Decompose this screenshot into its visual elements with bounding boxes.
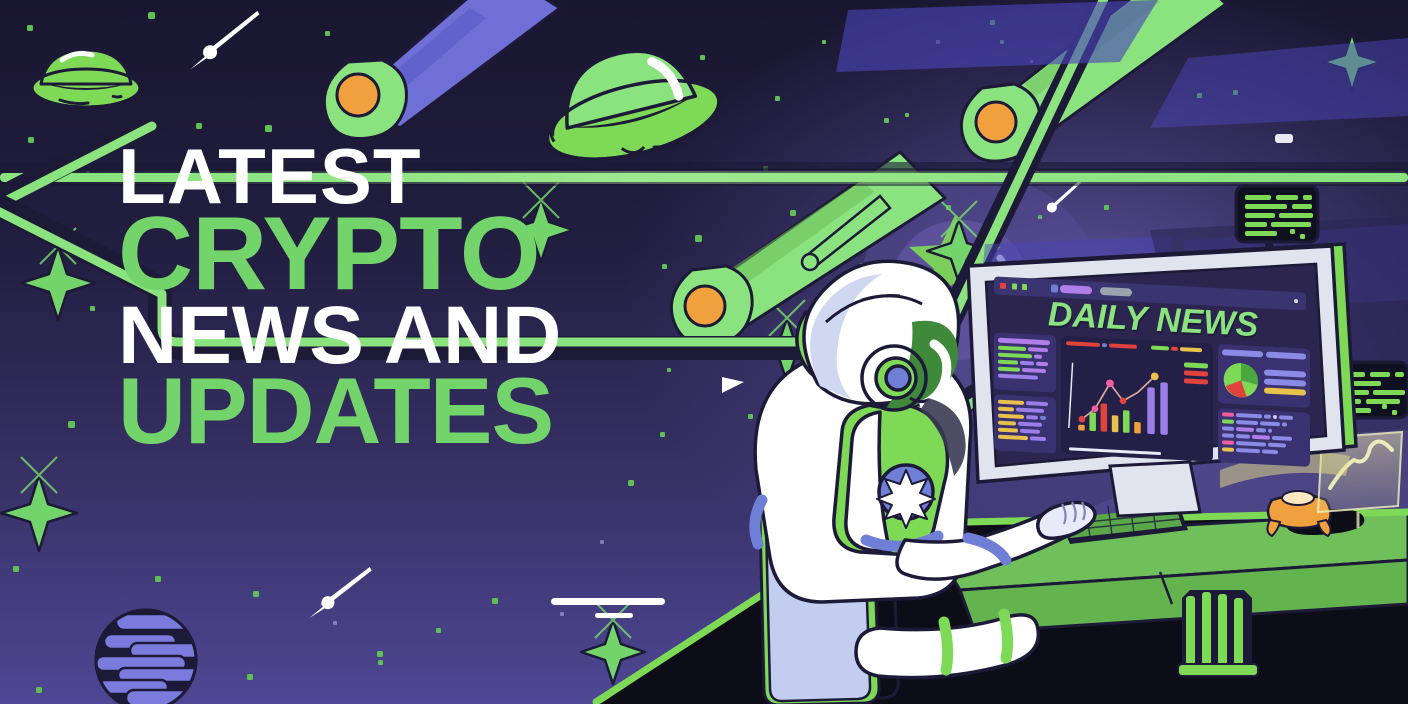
right-column	[1218, 344, 1310, 467]
chart-plot	[1067, 354, 1179, 440]
tab-favicon-icon	[1051, 284, 1058, 292]
bar-series	[1078, 378, 1168, 435]
panel-text-top	[994, 332, 1056, 392]
close-icon[interactable]	[1000, 283, 1006, 289]
monitor-screen-content: DAILY NEWS	[986, 268, 1320, 477]
pie-chart-svg	[1222, 360, 1260, 400]
dashboard-grid	[994, 332, 1310, 466]
address-bar[interactable]	[1100, 287, 1132, 297]
headline-line-4: UPDATES	[118, 368, 561, 454]
canisters	[1178, 590, 1258, 676]
banner-root: DAILY NEWS	[0, 0, 1408, 704]
chart-legend	[1066, 341, 1208, 352]
browser-tab[interactable]	[1060, 285, 1092, 295]
dashboard-chart-panel	[1061, 336, 1213, 462]
headline: LATEST CRYPTO NEWS AND UPDATES	[118, 141, 561, 454]
chart-x-axis	[1069, 447, 1161, 455]
panel-text-bottom	[994, 394, 1056, 454]
maximize-icon[interactable]	[1022, 284, 1027, 290]
chart-legend-right	[1184, 362, 1208, 384]
minimize-icon[interactable]	[1012, 283, 1017, 289]
headline-line-2: CRYPTO	[118, 207, 561, 303]
panel-list	[1218, 408, 1310, 467]
menu-icon[interactable]	[1294, 299, 1298, 303]
left-column	[994, 332, 1056, 453]
panel-pie	[1218, 344, 1310, 408]
